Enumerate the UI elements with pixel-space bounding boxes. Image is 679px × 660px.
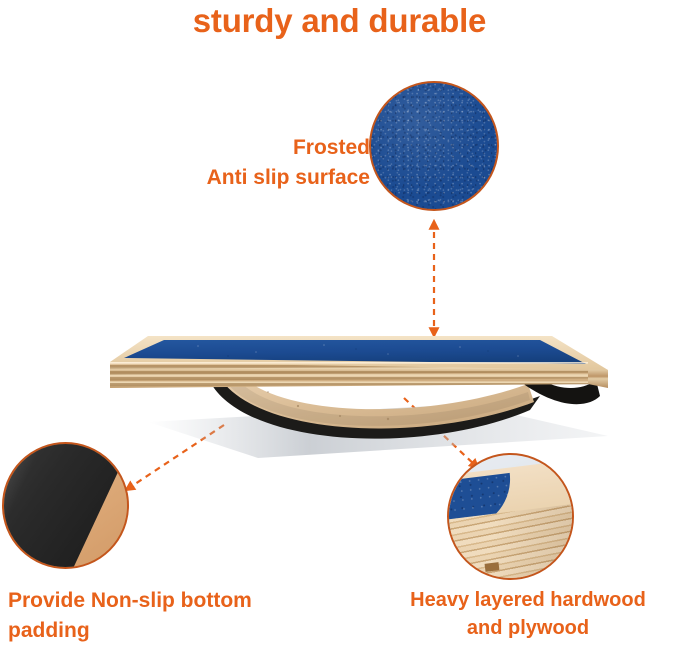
callout-label-plywood: Heavy layered hardwood and plywood — [382, 586, 674, 643]
detail-circle-frosted-surface — [369, 81, 499, 211]
balance-board-product — [88, 318, 608, 463]
infographic-canvas: sturdy and durable — [0, 0, 679, 660]
callout-label-padding: Provide Non-slip bottom padding — [8, 586, 338, 646]
callout-frosted-line2: Anti slip surface — [140, 163, 370, 193]
plywood-notch — [485, 562, 500, 572]
grip-texture — [371, 83, 497, 209]
detail-circle-bottom-padding — [2, 442, 129, 569]
callout-padding-line2: padding — [8, 616, 338, 646]
callout-label-frosted: Frosted Anti slip surface — [140, 133, 370, 193]
detail-circle-plywood-layers — [447, 453, 574, 580]
callout-frosted-line1: Frosted — [140, 133, 370, 163]
page-title: sturdy and durable — [0, 2, 679, 40]
callout-plywood-line2: and plywood — [382, 614, 674, 642]
callout-plywood-line1: Heavy layered hardwood — [382, 586, 674, 614]
callout-padding-line1: Provide Non-slip bottom — [8, 586, 338, 616]
